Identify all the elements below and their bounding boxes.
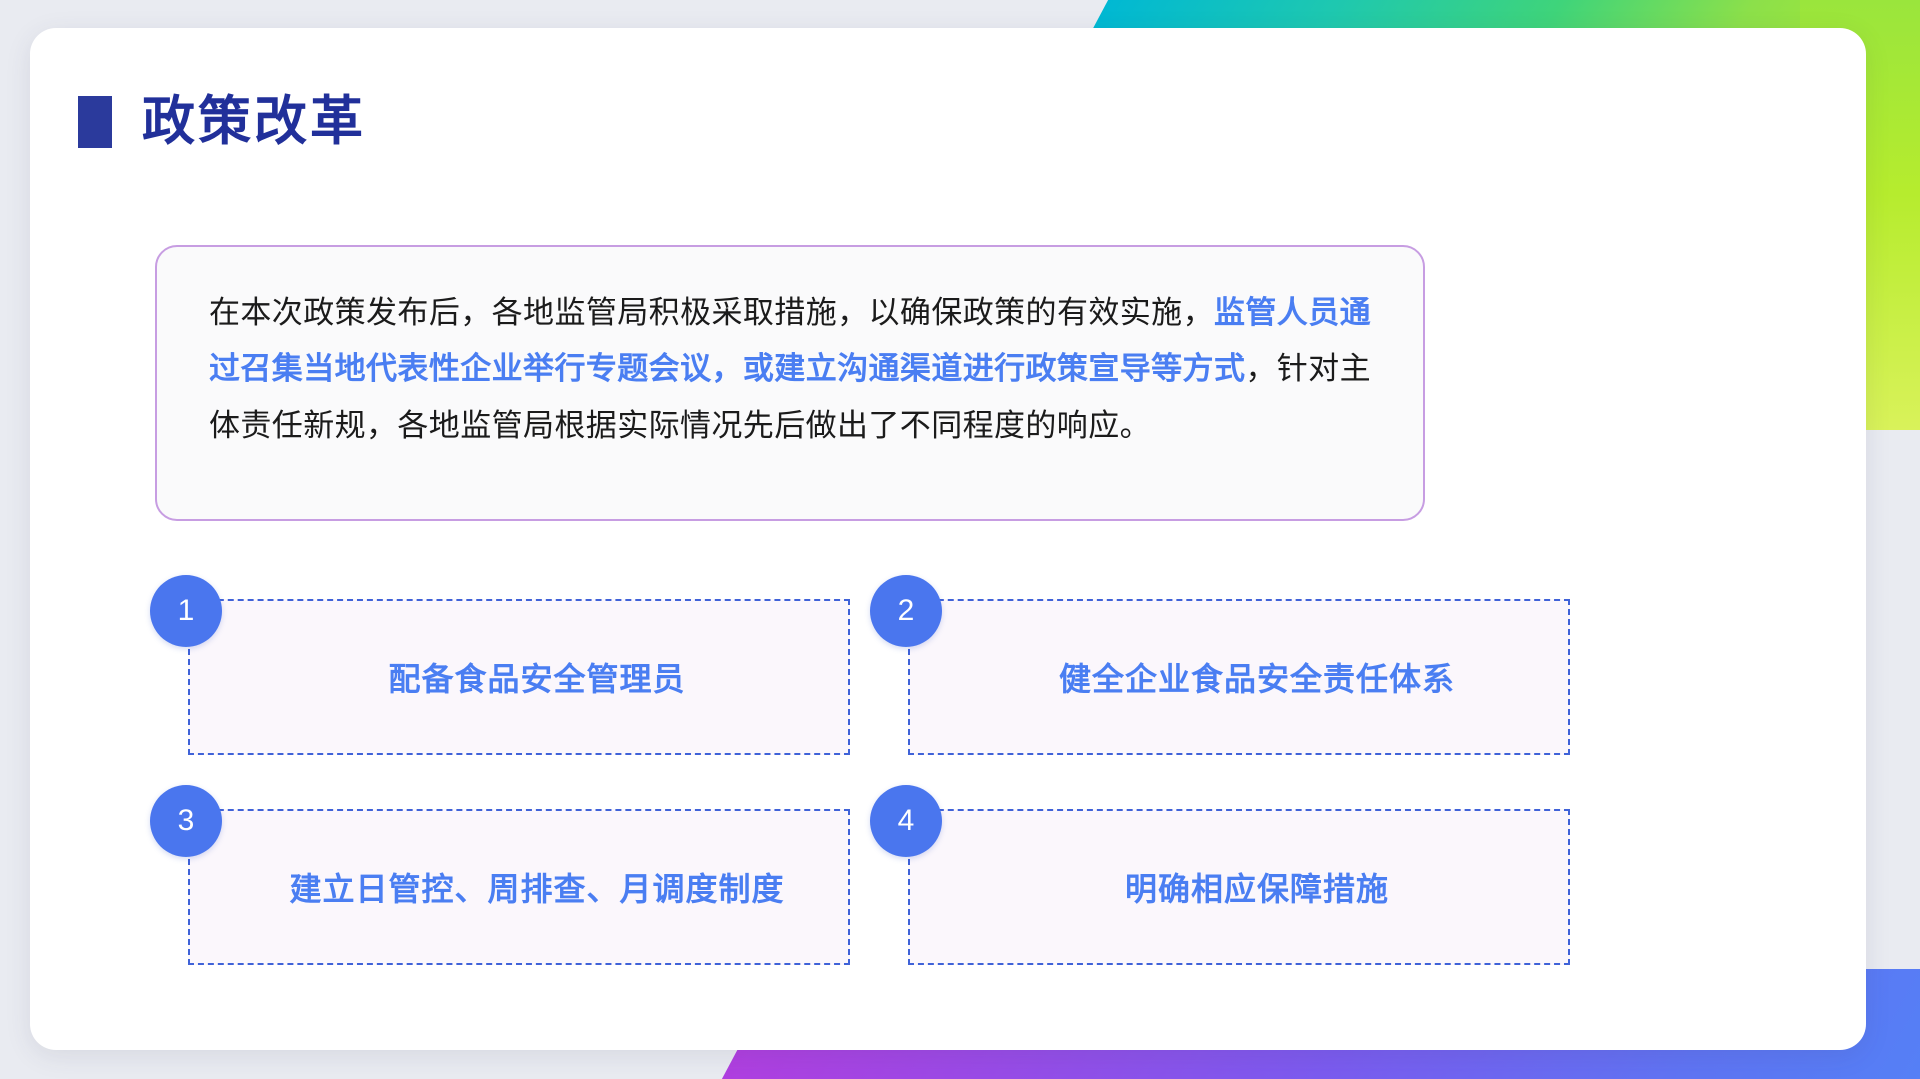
list-item[interactable]: 配备食品安全管理员 1 <box>150 575 850 755</box>
list-item[interactable]: 健全企业食品安全责任体系 2 <box>870 575 1570 755</box>
list-item[interactable]: 建立日管控、周排查、月调度制度 3 <box>150 785 850 965</box>
intro-paragraph-text: 在本次政策发布后，各地监管局积极采取措施，以确保政策的有效实施，监管人员通过召集… <box>209 285 1371 454</box>
numbered-items-grid: 配备食品安全管理员 1 健全企业食品安全责任体系 2 建立日管控、周排查、月调度… <box>150 575 1570 995</box>
item-box[interactable]: 明确相应保障措施 <box>908 809 1570 965</box>
item-number-badge: 1 <box>150 575 222 647</box>
intro-paragraph-box: 在本次政策发布后，各地监管局积极采取措施，以确保政策的有效实施，监管人员通过召集… <box>155 245 1425 521</box>
item-number-badge: 4 <box>870 785 942 857</box>
square-bullet-icon <box>78 96 112 148</box>
item-box[interactable]: 配备食品安全管理员 <box>188 599 850 755</box>
page-title: 政策改革 <box>78 95 366 148</box>
intro-segment-plain-1: 在本次政策发布后，各地监管局积极采取措施，以确保政策的有效实施， <box>209 295 1214 330</box>
item-box[interactable]: 健全企业食品安全责任体系 <box>908 599 1570 755</box>
list-item-label: 健全企业食品安全责任体系 <box>1023 654 1455 700</box>
list-item-label: 建立日管控、周排查、月调度制度 <box>253 864 784 910</box>
item-box[interactable]: 建立日管控、周排查、月调度制度 <box>188 809 850 965</box>
page-title-text: 政策改革 <box>142 95 366 148</box>
list-item-label: 明确相应保障措施 <box>1089 864 1389 910</box>
slide-canvas: 政策改革 在本次政策发布后，各地监管局积极采取措施，以确保政策的有效实施，监管人… <box>0 0 1920 1079</box>
item-number-badge: 2 <box>870 575 942 647</box>
item-number-badge: 3 <box>150 785 222 857</box>
list-item-label: 配备食品安全管理员 <box>352 654 685 700</box>
list-item[interactable]: 明确相应保障措施 4 <box>870 785 1570 965</box>
